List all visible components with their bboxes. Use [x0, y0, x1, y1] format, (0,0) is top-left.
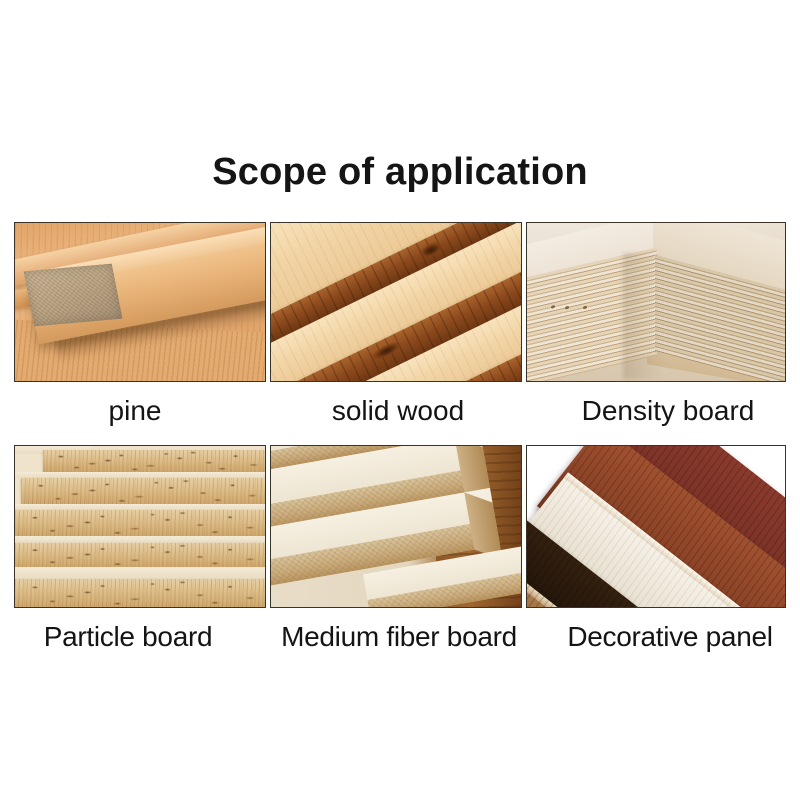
particle-board-edge: [21, 478, 266, 504]
solid-wood-photo: [270, 222, 522, 382]
medium-fiber-board-photo: [270, 445, 522, 608]
density-board-knot-spot: [583, 306, 587, 310]
particle-board-edge: [15, 543, 265, 567]
pine-end-grain-texture: [24, 264, 123, 327]
caption-row-1: pine solid wood Density board: [0, 394, 800, 428]
particle-board-edge: [15, 510, 265, 536]
caption-row-2: Particle board Medium fiber board Decora…: [0, 620, 800, 654]
gallery-item-medium-fiber-board[interactable]: [270, 445, 522, 608]
density-board-knot-spot: [551, 305, 555, 309]
particle-board-face: [15, 536, 265, 543]
particle-board-edge: [15, 579, 265, 607]
gallery-row-2: [14, 445, 786, 608]
particle-board-photo: [14, 445, 266, 608]
caption-decorative-panel: Decorative panel: [567, 620, 772, 654]
density-board-knot-spot: [565, 306, 569, 310]
density-board-corner-shadow: [623, 253, 663, 379]
pine-board-end-grain: [24, 264, 123, 327]
caption-solid-wood: solid wood: [332, 394, 464, 428]
particle-board-face: [15, 567, 265, 579]
gallery-item-density-board[interactable]: [526, 222, 786, 382]
gallery-item-pine[interactable]: [14, 222, 266, 382]
page-title: Scope of application: [0, 150, 800, 194]
gallery-item-particle-board[interactable]: [14, 445, 266, 608]
solid-wood-plank-stack: [270, 222, 522, 382]
density-board-photo: [526, 222, 786, 382]
pine-lumber-photo: [14, 222, 266, 382]
gallery-item-solid-wood[interactable]: [270, 222, 522, 382]
caption-particle-board: Particle board: [44, 620, 213, 654]
particle-board-edge: [43, 450, 266, 472]
caption-medium-fiber-board: Medium fiber board: [281, 620, 517, 654]
caption-density-board: Density board: [582, 394, 755, 428]
scope-of-application-graphic: Scope of application: [0, 0, 800, 800]
gallery-item-decorative-panel[interactable]: [526, 445, 786, 608]
decorative-panel-photo: [526, 445, 786, 608]
gallery-row-1: [14, 222, 786, 382]
caption-pine: pine: [109, 394, 162, 428]
